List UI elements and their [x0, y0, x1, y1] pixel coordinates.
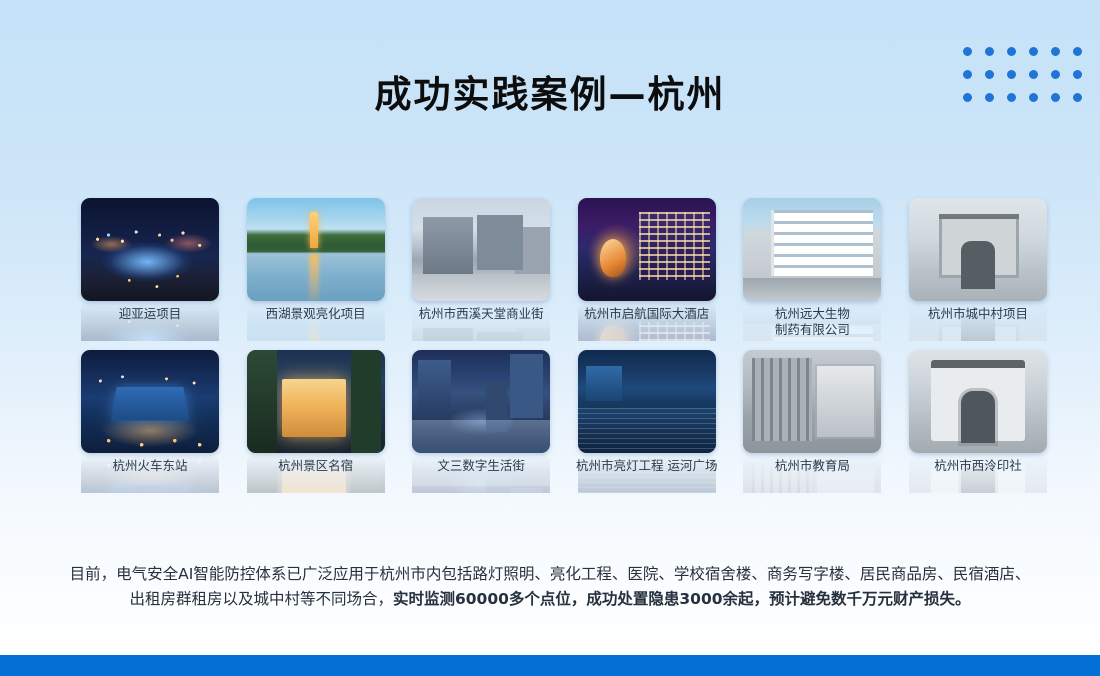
case-card[interactable]: 杭州火车东站 [81, 350, 219, 493]
case-photo-qihang [578, 198, 716, 301]
case-photo-eaststation [81, 350, 219, 453]
decoration-dot [985, 47, 994, 56]
case-caption: 文三数字生活街 [398, 458, 564, 474]
case-thumbnail[interactable] [81, 198, 219, 301]
case-grid-row-1: 迎亚运项目西湖景观亮化项目杭州市西溪天堂商业街杭州市启航国际大酒店杭州远大生物制… [81, 198, 1047, 341]
case-caption: 杭州市西溪天堂商业街 [398, 306, 564, 322]
case-thumbnail[interactable] [743, 350, 881, 453]
case-caption: 杭州市城中村项目 [895, 306, 1061, 322]
case-thumbnail[interactable] [412, 350, 550, 453]
case-card[interactable]: 杭州市亮灯工程 运河广场 [578, 350, 716, 493]
summary-line-1-text: 目前，电气安全AI智能防控体系已广泛应用于杭州市内包括路灯照明、亮化工程、医院、… [70, 565, 1031, 583]
case-thumbnail[interactable] [247, 198, 385, 301]
summary-line-1: 目前，电气安全AI智能防控体系已广泛应用于杭州市内包括路灯照明、亮化工程、医院、… [0, 562, 1100, 587]
case-photo-chengzhongcun [909, 198, 1047, 301]
case-photo-xiling [909, 350, 1047, 453]
case-card[interactable]: 杭州市西泠印社 [909, 350, 1047, 493]
case-photo-minsu [247, 350, 385, 453]
summary-highlight-stats: 实时监测60000多个点位，成功处置隐患3000余起，预计避免数千万元财产损失。 [393, 590, 971, 608]
case-thumbnail[interactable] [909, 350, 1047, 453]
slide-canvas: 成功实践案例—杭州 迎亚运项目西湖景观亮化项目杭州市西溪天堂商业街杭州市启航国际… [0, 0, 1100, 676]
case-photo-westlake [247, 198, 385, 301]
case-thumbnail[interactable] [743, 198, 881, 301]
case-caption: 西湖景观亮化项目 [233, 306, 399, 322]
case-caption: 杭州市启航国际大酒店 [564, 306, 730, 322]
case-card[interactable]: 杭州市西溪天堂商业街 [412, 198, 550, 341]
case-card[interactable]: 杭州远大生物制药有限公司 [743, 198, 881, 341]
page-title: 成功实践案例—杭州 [0, 64, 1100, 118]
case-thumbnail[interactable] [412, 198, 550, 301]
case-caption: 杭州景区名宿 [233, 458, 399, 474]
case-thumbnail[interactable] [81, 350, 219, 453]
case-thumbnail[interactable] [909, 198, 1047, 301]
case-caption: 杭州市教育局 [729, 458, 895, 474]
bottom-accent-bar [0, 655, 1100, 676]
summary-line-2: 出租房群租房以及城中村等不同场合，实时监测60000多个点位，成功处置隐患300… [0, 587, 1100, 612]
decoration-dot [1073, 47, 1082, 56]
decoration-dot [1007, 47, 1016, 56]
decoration-dot [1051, 47, 1060, 56]
case-card[interactable]: 杭州景区名宿 [247, 350, 385, 493]
case-caption: 迎亚运项目 [67, 306, 233, 322]
decoration-dot [1029, 47, 1038, 56]
case-caption: 杭州火车东站 [67, 458, 233, 474]
case-grid-row-2: 杭州火车东站杭州景区名宿文三数字生活街杭州市亮灯工程 运河广场杭州市教育局杭州市… [81, 350, 1047, 493]
case-card[interactable]: 迎亚运项目 [81, 198, 219, 341]
case-thumbnail[interactable] [578, 350, 716, 453]
case-card[interactable]: 杭州市启航国际大酒店 [578, 198, 716, 341]
case-caption: 杭州市亮灯工程 运河广场 [564, 458, 730, 474]
case-card[interactable]: 文三数字生活街 [412, 350, 550, 493]
case-thumbnail[interactable] [247, 350, 385, 453]
case-card[interactable]: 西湖景观亮化项目 [247, 198, 385, 341]
case-photo-yuanda [743, 198, 881, 301]
case-caption: 杭州市西泠印社 [895, 458, 1061, 474]
case-photo-asiangames [81, 198, 219, 301]
case-photo-xixi [412, 198, 550, 301]
case-card[interactable]: 杭州市城中村项目 [909, 198, 1047, 341]
summary-paragraph: 目前，电气安全AI智能防控体系已广泛应用于杭州市内包括路灯照明、亮化工程、医院、… [0, 562, 1100, 612]
case-photo-wensan [412, 350, 550, 453]
case-photo-jiaoyuju [743, 350, 881, 453]
summary-line-2-text: 出租房群租房以及城中村等不同场合， [129, 590, 393, 608]
case-photo-canal [578, 350, 716, 453]
decoration-dot [963, 47, 972, 56]
case-thumbnail[interactable] [578, 198, 716, 301]
case-caption: 杭州远大生物制药有限公司 [729, 306, 895, 338]
case-card[interactable]: 杭州市教育局 [743, 350, 881, 493]
